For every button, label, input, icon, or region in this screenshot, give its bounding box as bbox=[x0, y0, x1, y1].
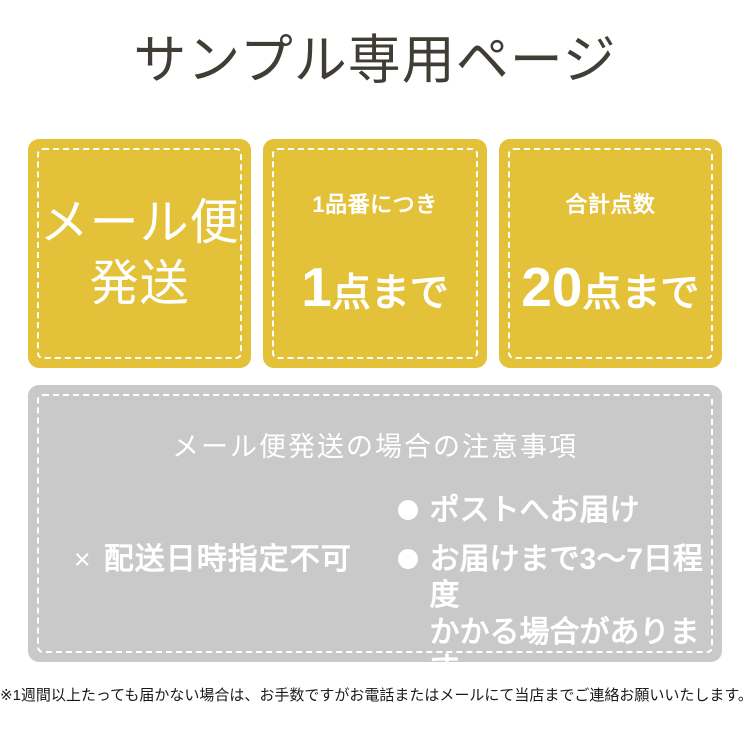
notice-bullet-list: ポストへお届け お届けまで3〜7日程度 かかる場合があります bbox=[398, 493, 722, 662]
list-item: お届けまで3〜7日程度 かかる場合があります bbox=[398, 542, 722, 662]
badge-caption: 1品番につき bbox=[271, 192, 478, 218]
badge-content: 合計点数 20 点まで bbox=[499, 192, 722, 315]
badge-per-item-limit: 1品番につき 1 点まで bbox=[263, 139, 486, 368]
badge-line-2: 発送 bbox=[36, 254, 243, 314]
badge-content: 1品番につき 1 点まで bbox=[263, 192, 486, 315]
badge-total-limit: 合計点数 20 点まで bbox=[499, 139, 722, 368]
notice-restriction-label: 配送日時指定不可 bbox=[104, 545, 352, 575]
badge-row: メール便 発送 1品番につき 1 点まで 合計点数 20 点まで bbox=[28, 139, 722, 368]
footer-note: ※1週間以上たっても届かない場合は、お手数ですがお電話またはメールにて当店までご… bbox=[0, 684, 750, 705]
badge-value-unit: 点まで bbox=[332, 274, 449, 313]
notice-restriction: × 配送日時指定不可 bbox=[28, 493, 398, 633]
badge-line-1: メール便 bbox=[36, 193, 243, 253]
cross-mark-icon: × bbox=[74, 546, 91, 575]
notice-body: × 配送日時指定不可 ポストへお届け お届けまで3〜7日程度 かかる場合がありま… bbox=[28, 493, 722, 633]
badge-caption: 合計点数 bbox=[507, 192, 714, 218]
badge-value: 20 点まで bbox=[507, 260, 714, 315]
badge-value-number: 1 bbox=[301, 260, 332, 315]
banner-page: サンプル専用ページ メール便 発送 1品番につき 1 点まで bbox=[0, 0, 750, 750]
list-item-label: お届けまで3〜7日程度 かかる場合があります bbox=[430, 542, 722, 662]
badge-shipping-method: メール便 発送 bbox=[28, 139, 251, 368]
list-item-label: ポストへお届け bbox=[430, 493, 640, 530]
notice-panel: メール便発送の場合の注意事項 × 配送日時指定不可 ポストへお届け お届けまで3… bbox=[28, 385, 722, 662]
notice-heading: メール便発送の場合の注意事項 bbox=[28, 425, 722, 464]
page-title: サンプル専用ページ bbox=[0, 28, 750, 94]
bullet-dot-icon bbox=[398, 549, 418, 569]
bullet-dot-icon bbox=[398, 500, 418, 520]
badge-value-unit: 点まで bbox=[582, 274, 699, 313]
badge-value: 1 点まで bbox=[271, 260, 478, 315]
list-item: ポストへお届け bbox=[398, 493, 722, 530]
badge-value-number: 20 bbox=[521, 260, 582, 315]
badge-content: メール便 発送 bbox=[28, 193, 251, 314]
